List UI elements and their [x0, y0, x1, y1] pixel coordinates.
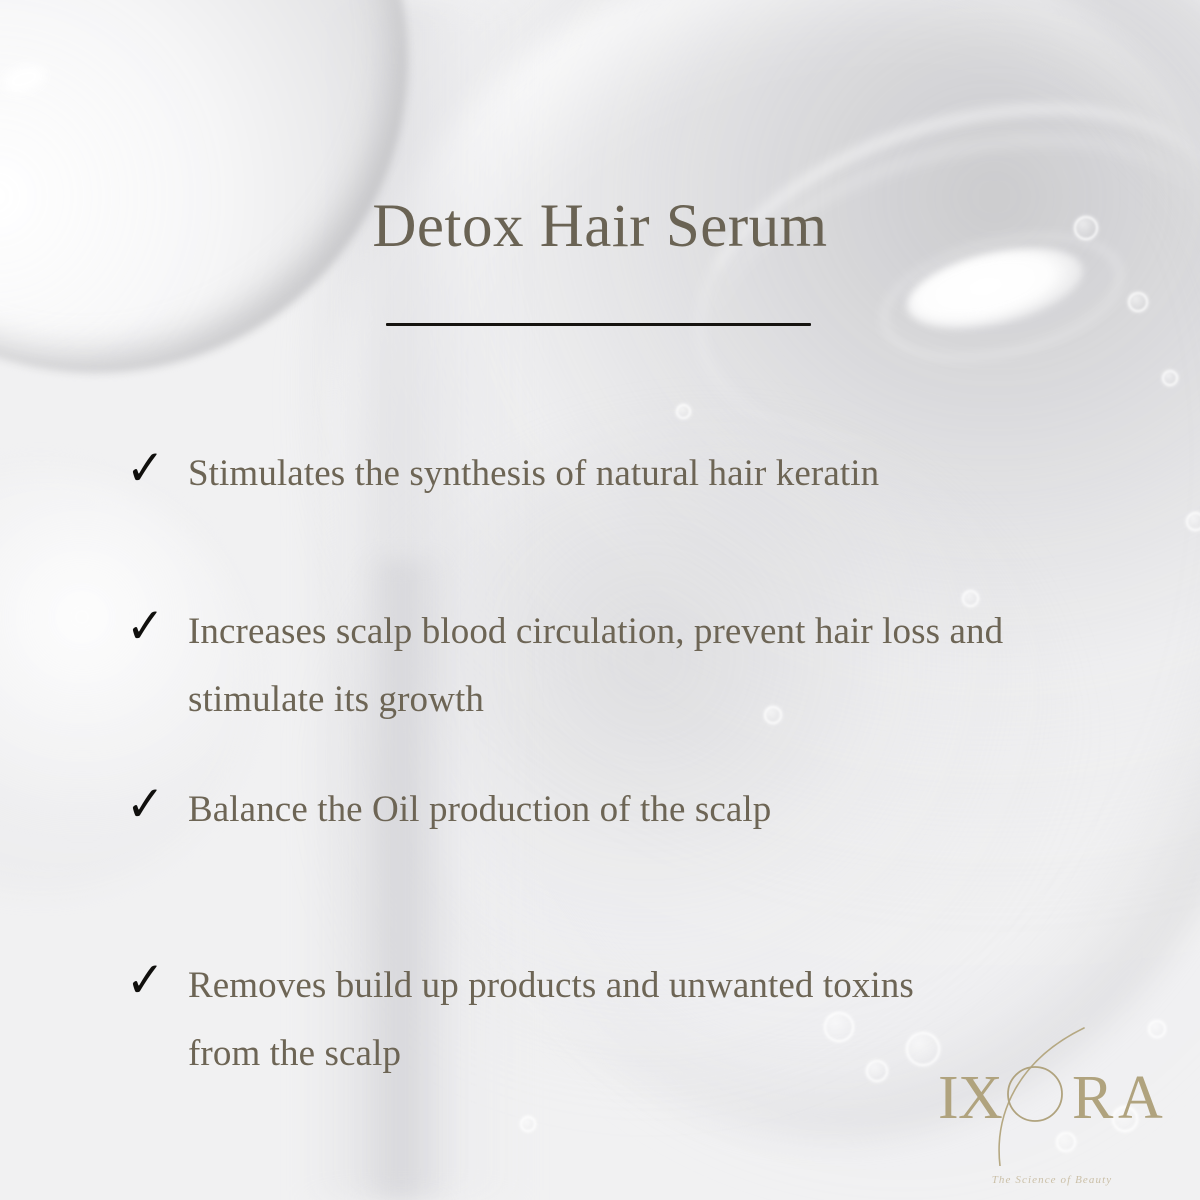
ixora-logo-icon: I X R A — [932, 1006, 1182, 1166]
check-icon: ✓ — [126, 952, 183, 1008]
svg-text:I: I — [938, 1064, 959, 1132]
brand-logo: I X R A The Science of Beauty — [932, 1006, 1182, 1196]
list-item: ✓ Stimulates the synthesis of natural ha… — [126, 440, 1078, 508]
list-item: ✓ Removes build up products and unwanted… — [126, 952, 928, 1088]
check-icon: ✓ — [126, 598, 183, 654]
product-benefits-poster: Detox Hair Serum ✓ Stimulates the synthe… — [0, 0, 1200, 1200]
benefit-text: Removes build up products and unwanted t… — [188, 952, 928, 1088]
benefit-text: Balance the Oil production of the scalp — [188, 776, 948, 844]
svg-text:X: X — [958, 1064, 1003, 1132]
benefit-text: Increases scalp blood circulation, preve… — [188, 598, 1123, 734]
svg-text:A: A — [1118, 1064, 1163, 1132]
brand-tagline: The Science of Beauty — [932, 1174, 1172, 1186]
list-item: ✓ Balance the Oil production of the scal… — [126, 776, 948, 844]
svg-text:R: R — [1072, 1064, 1114, 1132]
benefit-text: Stimulates the synthesis of natural hair… — [188, 440, 1078, 508]
poster-content: Detox Hair Serum ✓ Stimulates the synthe… — [0, 0, 1200, 1200]
list-item: ✓ Increases scalp blood circulation, pre… — [126, 598, 1123, 734]
title-divider — [386, 323, 811, 326]
page-title: Detox Hair Serum — [0, 196, 1200, 257]
check-icon: ✓ — [126, 440, 183, 496]
check-icon: ✓ — [126, 776, 183, 832]
